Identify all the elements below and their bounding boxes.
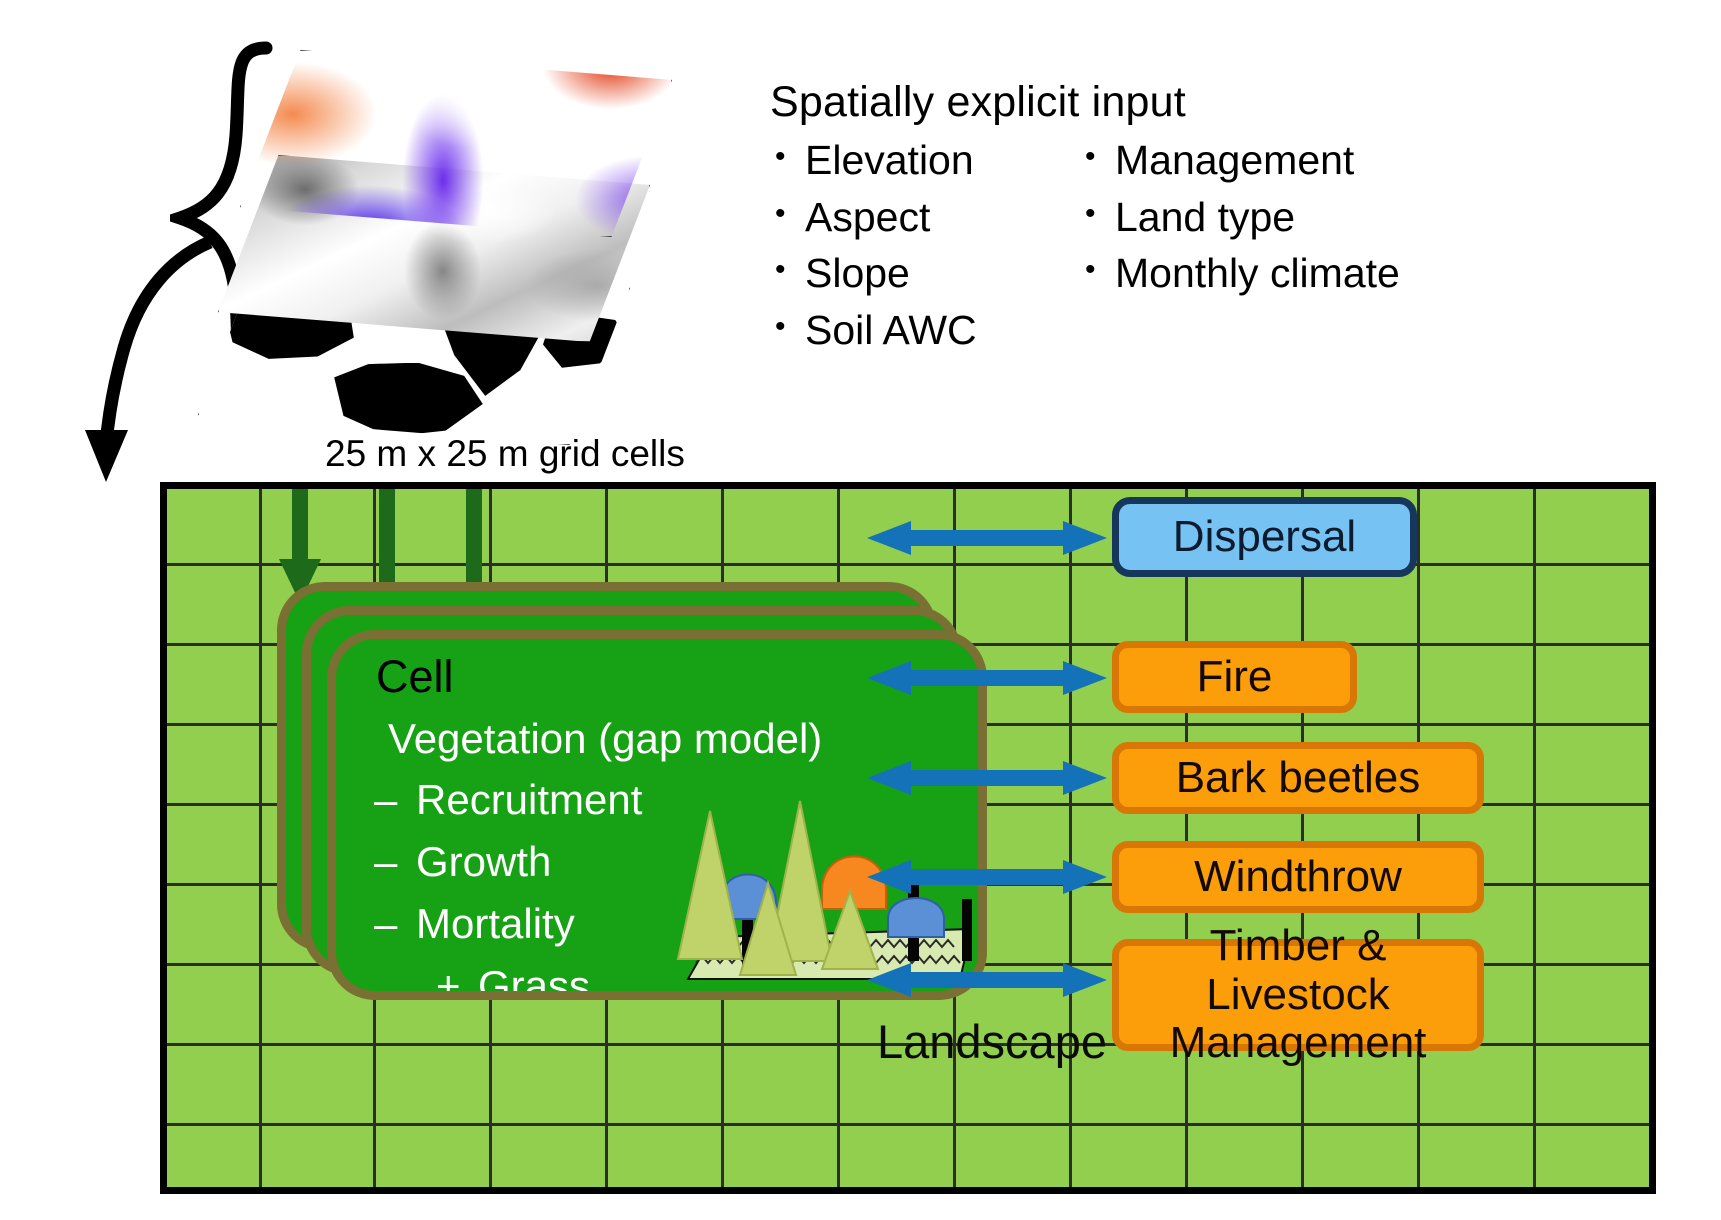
bullet-dot-icon: • xyxy=(775,133,805,182)
input-bullet-label: Soil AWC xyxy=(805,303,977,358)
windthrow-link-arrow xyxy=(867,860,1107,894)
process-box-label: Bark beetles xyxy=(1176,754,1421,802)
bullet-dot-icon: • xyxy=(1085,133,1115,182)
dash-icon: – xyxy=(374,900,416,948)
process-box-label: Fire xyxy=(1197,653,1273,701)
input-bullet-label: Elevation xyxy=(805,133,974,188)
input-bullets-left: • Elevation • Aspect • Slope • Soil AWC xyxy=(775,133,1085,359)
bullet-dot-icon: • xyxy=(1085,190,1115,239)
process-box-dispersal[interactable]: Dispersal xyxy=(1112,497,1417,577)
input-bullet-land-type: • Land type xyxy=(1085,190,1505,245)
cell-process-label: Mortality xyxy=(416,900,575,948)
process-box-label: Dispersal xyxy=(1173,513,1356,561)
cell-title: Cell xyxy=(376,651,454,703)
input-bullet-label: Slope xyxy=(805,246,910,301)
process-box-label-line1: Timber & Livestock xyxy=(1119,922,1477,1019)
input-bullet-label: Management xyxy=(1115,133,1354,188)
bullet-dot-icon: • xyxy=(775,303,805,352)
fire-link-arrow xyxy=(867,661,1107,695)
process-box-bark-beetles[interactable]: Bark beetles xyxy=(1112,742,1484,814)
cell-subtitle: Vegetation (gap model) xyxy=(388,715,822,763)
input-bullet-management: • Management xyxy=(1085,133,1505,188)
bark-beetles-link-arrow xyxy=(867,761,1107,795)
bullet-dot-icon: • xyxy=(1085,246,1115,295)
cell-process-recruitment: – Recruitment xyxy=(374,776,642,824)
plus-icon: + xyxy=(436,962,478,1000)
process-box-timber-livestock-management[interactable]: Timber & Livestock Management xyxy=(1112,939,1484,1051)
input-bullet-label: Land type xyxy=(1115,190,1295,245)
input-bullet-aspect: • Aspect xyxy=(775,190,1085,245)
input-title: Spatially explicit input xyxy=(770,78,1570,127)
process-box-fire[interactable]: Fire xyxy=(1112,641,1357,713)
cell-process-mortality: – Mortality xyxy=(374,900,575,948)
process-box-windthrow[interactable]: Windthrow xyxy=(1112,841,1484,913)
input-bullet-monthly-climate: • Monthly climate xyxy=(1085,246,1505,301)
input-bullet-label: Aspect xyxy=(805,190,930,245)
cell-process-label: Recruitment xyxy=(416,776,642,824)
cell-process-label: Grass xyxy=(478,962,590,1000)
dash-icon: – xyxy=(374,838,416,886)
spatially-explicit-input-block: Spatially explicit input • Elevation • A… xyxy=(770,78,1570,359)
grid-cell-size-caption: 25 m x 25 m grid cells xyxy=(325,433,685,475)
landscape-label: Landscape xyxy=(877,1014,1107,1069)
input-bullets-right: • Management • Land type • Monthly clima… xyxy=(1085,133,1505,359)
input-bullet-label: Monthly climate xyxy=(1115,246,1400,301)
dash-icon: – xyxy=(374,776,416,824)
cell-process-label: Growth xyxy=(416,838,551,886)
input-bullet-elevation: • Elevation xyxy=(775,133,1085,188)
climate-raster-layer xyxy=(240,50,672,237)
landscape-panel: Cell Vegetation (gap model) – Recruitmen… xyxy=(160,482,1656,1194)
input-bullet-soil-awc: • Soil AWC xyxy=(775,303,1085,358)
cell-process-grass: + Grass xyxy=(436,962,590,1000)
bullet-dot-icon: • xyxy=(775,190,805,239)
flow-arrow-to-landscape xyxy=(60,230,280,490)
timber-management-link-arrow xyxy=(867,963,1107,997)
bullet-dot-icon: • xyxy=(775,246,805,295)
cell-process-growth: – Growth xyxy=(374,838,551,886)
input-bullet-slope: • Slope xyxy=(775,246,1085,301)
process-box-label: Windthrow xyxy=(1194,853,1402,901)
dispersal-link-arrow xyxy=(867,521,1107,555)
process-box-label-line2: Management xyxy=(1170,1019,1427,1067)
